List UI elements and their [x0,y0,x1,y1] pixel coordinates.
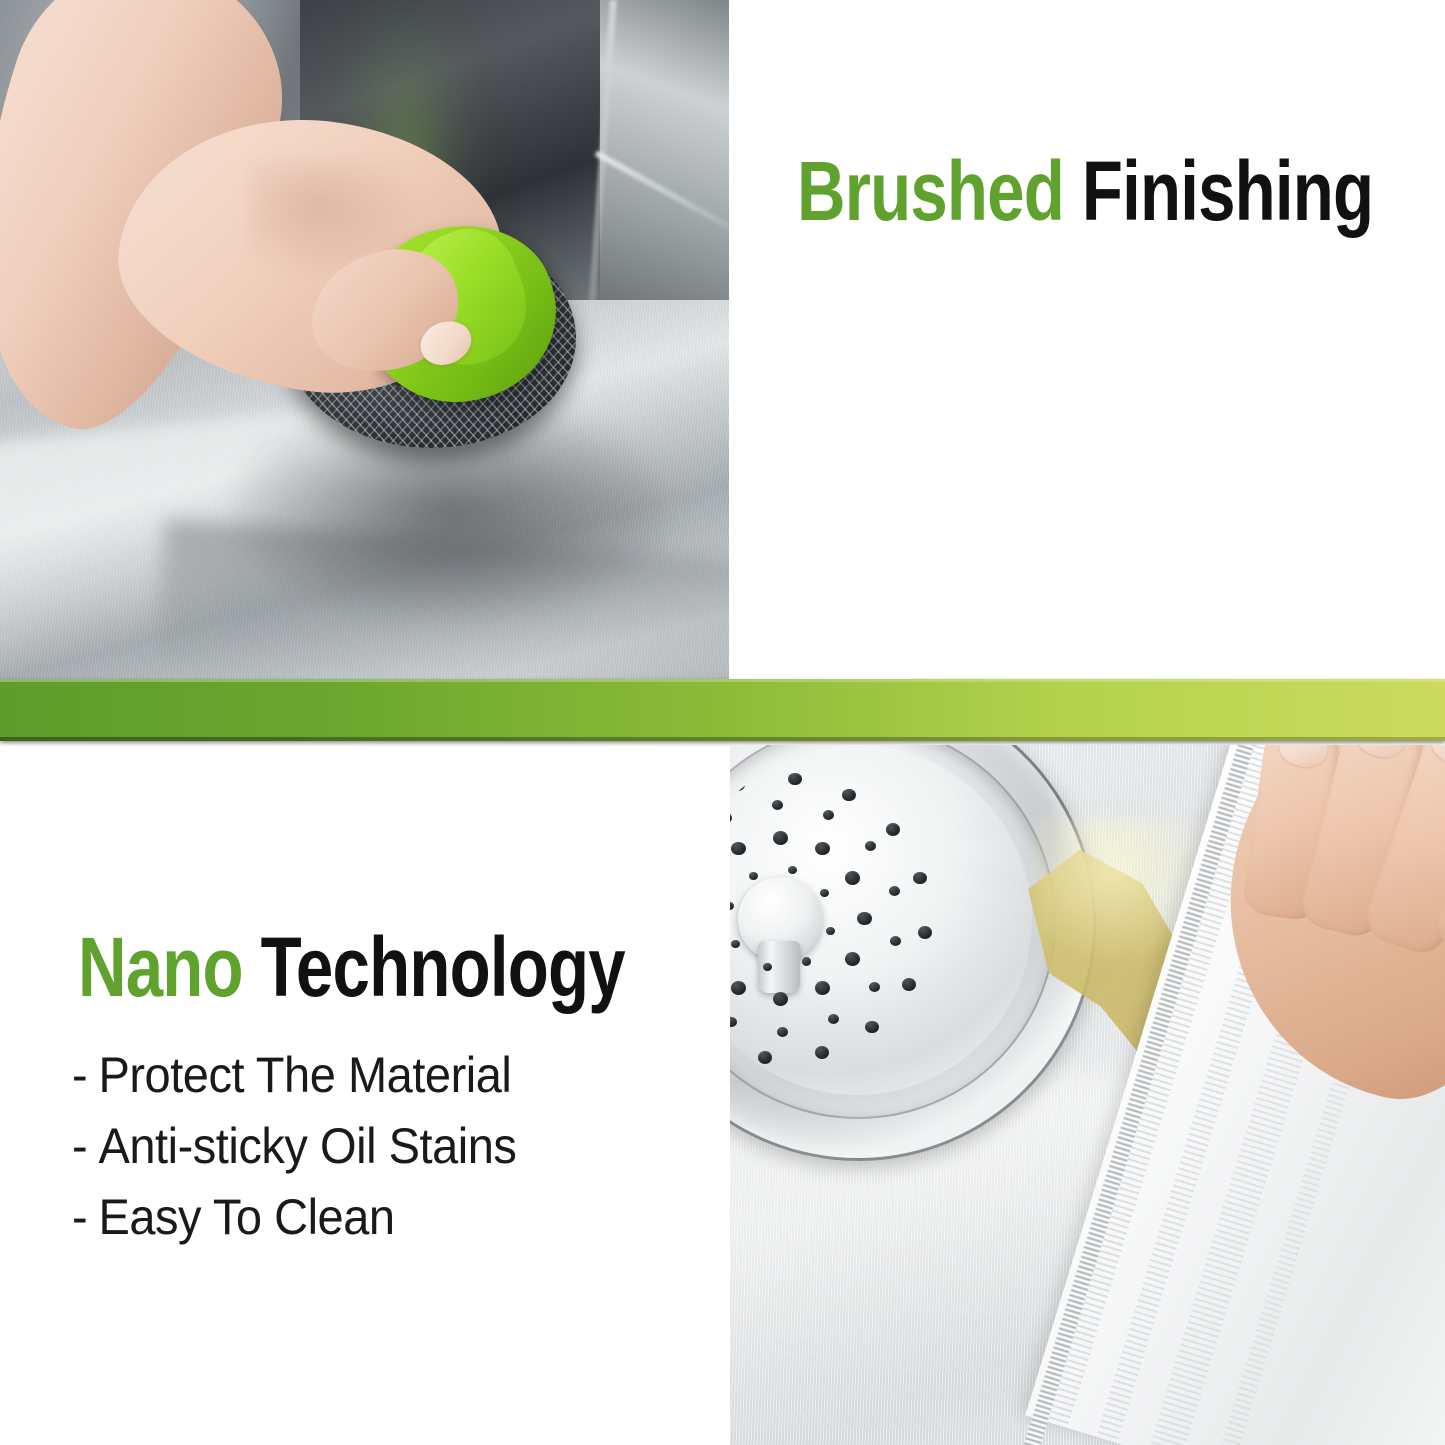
heading-green-word: Brushed [797,144,1064,238]
strainer-hole [777,1027,788,1037]
strainer-hole [731,940,740,948]
strainer-hole [772,800,783,810]
strainer-hole [842,789,856,802]
strainer-hole [763,963,772,971]
strainer-hole [918,926,932,939]
strainer-hole [731,981,746,995]
product-infographic: Brushed Finishing -Modern & Metal Textur… [0,0,1445,1445]
nano-technology-heading: Nano Technology [78,928,625,1008]
strainer-hole [886,823,900,836]
strainer-hole [730,1017,737,1027]
strainer-hole [845,871,860,885]
strainer-hole [823,810,834,820]
bullet-text: Easy To Clean [98,1189,394,1245]
bullet-item: -Easy To Clean [72,1182,516,1253]
heading-green-word: Nano [78,920,243,1014]
strainer-hole [815,981,830,995]
strainer-hole [730,902,734,910]
strainer-hole [749,872,758,880]
bullet-item: -Protect The Material [72,1040,516,1111]
strainer-hole [889,886,900,896]
strainer-hole [826,927,835,935]
strainer-hole [865,1021,879,1034]
strainer-hole [865,841,876,851]
strainer-hole [902,978,916,991]
bullet-item: -Anti-sticky Oil Stains [72,1111,516,1182]
strainer-hole [802,957,811,965]
strainer-hole [773,831,788,845]
strainer-hole [869,982,880,992]
strainer-hole [913,872,927,885]
nano-technology-bullets: -Protect The Material -Anti-sticky Oil S… [72,1040,516,1253]
heading-black-word: Finishing [1082,144,1373,238]
strainer-hole [773,992,788,1006]
bullet-text: Protect The Material [98,1047,511,1103]
strainer-hole [820,889,829,897]
bullet-dash: - [72,1118,87,1174]
photo-wiping-oil-stain-near-drain [730,745,1445,1445]
bullet-text: Anti-sticky Oil Stains [98,1118,516,1174]
strainer-hole [890,936,901,946]
strainer-hole [788,866,797,874]
strainer-hole [731,842,746,856]
heading-black-word: Technology [261,920,625,1014]
strainer-hole [815,1046,829,1059]
bullet-dash: - [72,1189,87,1245]
strainer-hole [828,1014,839,1024]
bullet-dash: - [72,1047,87,1103]
strainer-hole [815,842,830,856]
brushed-finishing-panel: Brushed Finishing -Modern & Metal Textur… [729,0,1445,679]
photo-hand-scrubbing-sink-corner [0,0,729,679]
strainer-hole [857,912,872,926]
strainer-hole [731,778,745,791]
brushed-finishing-heading: Brushed Finishing [797,152,1373,232]
divider-highlight [0,679,1445,682]
strainer-hole [758,1051,772,1064]
strainer-hole [845,952,860,966]
strainer-hole [730,813,732,823]
green-gradient-divider [0,679,1445,741]
strainer-hole [788,773,802,786]
